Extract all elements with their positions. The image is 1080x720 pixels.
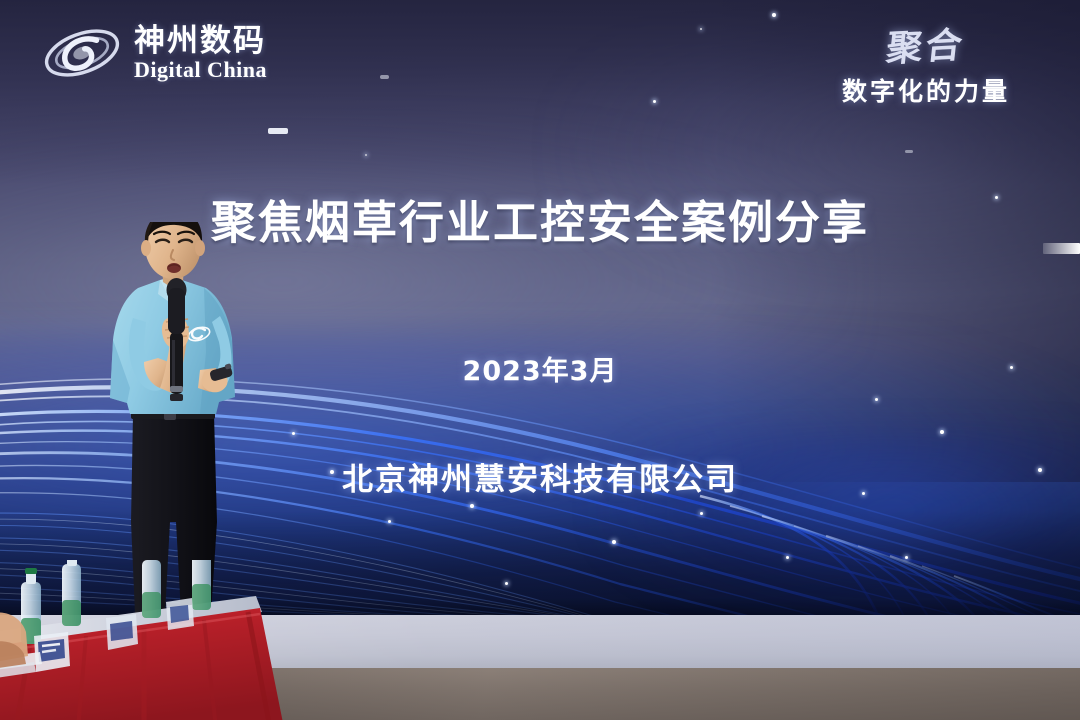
particle-dash xyxy=(905,150,913,153)
water-bottle xyxy=(62,560,81,626)
event-slogan-calligraphy: 聚合 xyxy=(792,11,1059,77)
particle-dot xyxy=(772,13,776,17)
panel-table xyxy=(0,560,284,720)
event-slogan: 聚合 数字化的力量 xyxy=(796,18,1056,108)
name-card xyxy=(106,614,138,650)
particle-dash xyxy=(380,75,389,79)
particle-dot xyxy=(470,504,474,508)
particle-dot xyxy=(365,154,367,156)
brand-logo: 神州数码 Digital China xyxy=(42,22,267,84)
brand-name-en: Digital China xyxy=(134,59,267,81)
particle-dot xyxy=(388,520,391,523)
particle-dot xyxy=(905,556,908,559)
name-card xyxy=(166,598,194,630)
particle-dot xyxy=(700,512,703,515)
particle-dot xyxy=(292,432,295,435)
particle-dot xyxy=(505,582,508,585)
water-bottle xyxy=(142,560,161,618)
particle-dot xyxy=(940,430,944,434)
particle-dot xyxy=(700,28,702,30)
water-bottle xyxy=(192,560,211,610)
particle-dot xyxy=(875,398,878,401)
spiral-galaxy-icon xyxy=(42,22,122,84)
particle-dot xyxy=(653,100,656,103)
conference-stage-photo: 神州数码 Digital China 聚合 数字化的力量 聚焦烟草行业工控安全案… xyxy=(0,0,1080,720)
particle-dot xyxy=(612,540,616,544)
particle-dot xyxy=(786,556,789,559)
name-card xyxy=(34,632,70,672)
particle-dash xyxy=(268,128,288,134)
event-slogan-subtitle: 数字化的力量 xyxy=(796,72,1056,108)
brand-name-cn: 神州数码 xyxy=(134,26,267,57)
brand-text: 神州数码 Digital China xyxy=(134,26,267,81)
